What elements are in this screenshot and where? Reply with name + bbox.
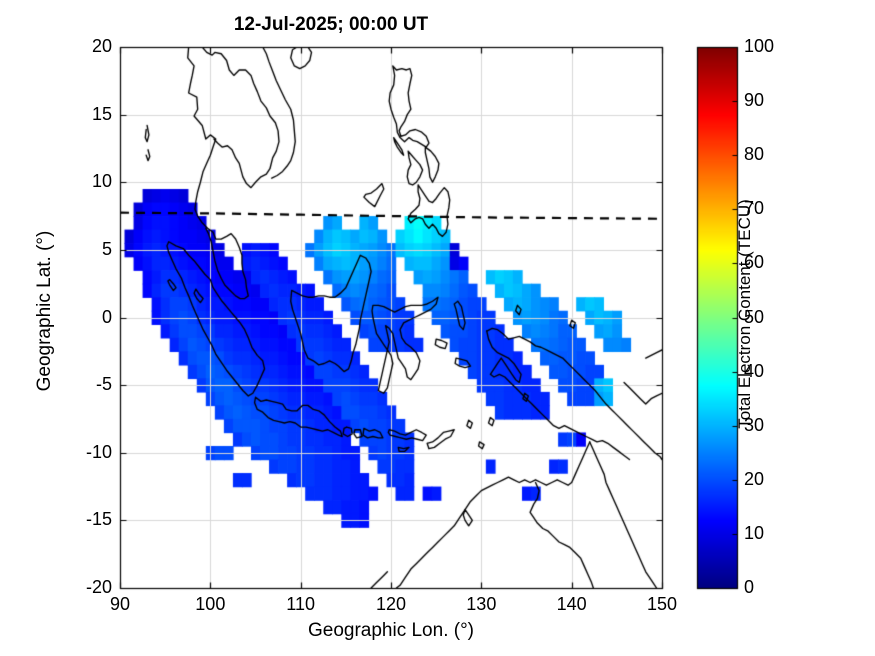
x-axis-label: Geographic Lon. (°) [120, 620, 662, 642]
y-tick-6: -10 [52, 442, 112, 463]
y-tick-8: -20 [52, 577, 112, 598]
colorbar-tick-6: 60 [744, 252, 804, 273]
y-tick-2: 10 [52, 171, 112, 192]
y-tick-0: 20 [52, 36, 112, 57]
y-tick-3: 5 [52, 239, 112, 260]
y-tick-1: 15 [52, 104, 112, 125]
x-tick-3: 120 [361, 594, 421, 615]
colorbar-tick-10: 100 [744, 36, 804, 57]
colorbar-tick-7: 70 [744, 198, 804, 219]
page-title: 12-Jul-2025; 00:00 UT [0, 14, 662, 36]
y-tick-5: -5 [52, 374, 112, 395]
colorbar-tick-8: 80 [744, 144, 804, 165]
colorbar-tick-5: 50 [744, 307, 804, 328]
x-tick-4: 130 [451, 594, 511, 615]
x-tick-1: 100 [180, 594, 240, 615]
x-tick-2: 110 [271, 594, 331, 615]
x-tick-6: 150 [632, 594, 692, 615]
colorbar-tick-3: 30 [744, 415, 804, 436]
colorbar-tick-2: 20 [744, 469, 804, 490]
colorbar-tick-0: 0 [744, 577, 804, 598]
y-tick-7: -15 [52, 509, 112, 530]
y-tick-4: 0 [52, 307, 112, 328]
figure-panel: 12-Jul-2025; 00:00 UT Geographic Lon. (°… [0, 0, 875, 656]
colorbar-tick-1: 10 [744, 523, 804, 544]
colorbar-tick-4: 40 [744, 361, 804, 382]
x-tick-5: 140 [542, 594, 602, 615]
colorbar-tick-9: 90 [744, 90, 804, 111]
